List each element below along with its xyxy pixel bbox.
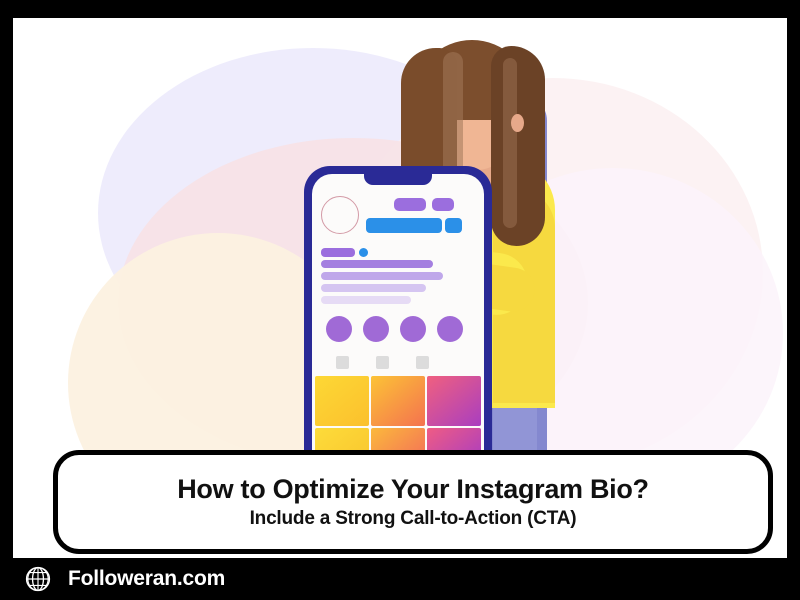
hair-front-right [491,46,545,246]
post-grid [312,376,484,458]
page-subtitle: Include a Strong Call-to-Action (CTA) [250,508,577,530]
grid-tile [371,376,425,426]
story-highlight-1 [326,316,352,342]
bio-line-3 [321,284,426,292]
tab-icon-2 [376,356,389,369]
hair-highlight-right [503,58,517,228]
footer-bar: Followeran.com [0,558,800,600]
page-title: How to Optimize Your Instagram Bio? [177,474,649,505]
poster-canvas: How to Optimize Your Instagram Bio? Incl… [13,18,787,558]
globe-icon [24,565,52,593]
phone-notch [364,174,432,185]
bio-line-1 [321,260,433,268]
profile-name-placeholder [321,248,355,257]
message-button-placeholder [445,218,462,233]
story-highlight-3 [400,316,426,342]
bio-line-2 [321,272,443,280]
profile-stat-pill-1 [394,198,426,211]
profile-stat-pill-2 [432,198,454,211]
tab-icon-1 [336,356,349,369]
verified-badge-placeholder [359,248,368,257]
phone-screen [312,174,484,458]
grid-tile [427,376,481,426]
bio-line-4 [321,296,411,304]
profile-avatar-placeholder [321,196,359,234]
tab-icon-3 [416,356,429,369]
ear [511,114,524,132]
poster-root: How to Optimize Your Instagram Bio? Incl… [0,0,800,600]
phone-mockup [304,166,492,458]
story-highlight-4 [437,316,463,342]
site-name: Followeran.com [68,567,225,591]
caption-box: How to Optimize Your Instagram Bio? Incl… [53,450,773,554]
story-highlight-2 [363,316,389,342]
follow-button-placeholder [366,218,442,233]
grid-tile [315,376,369,426]
